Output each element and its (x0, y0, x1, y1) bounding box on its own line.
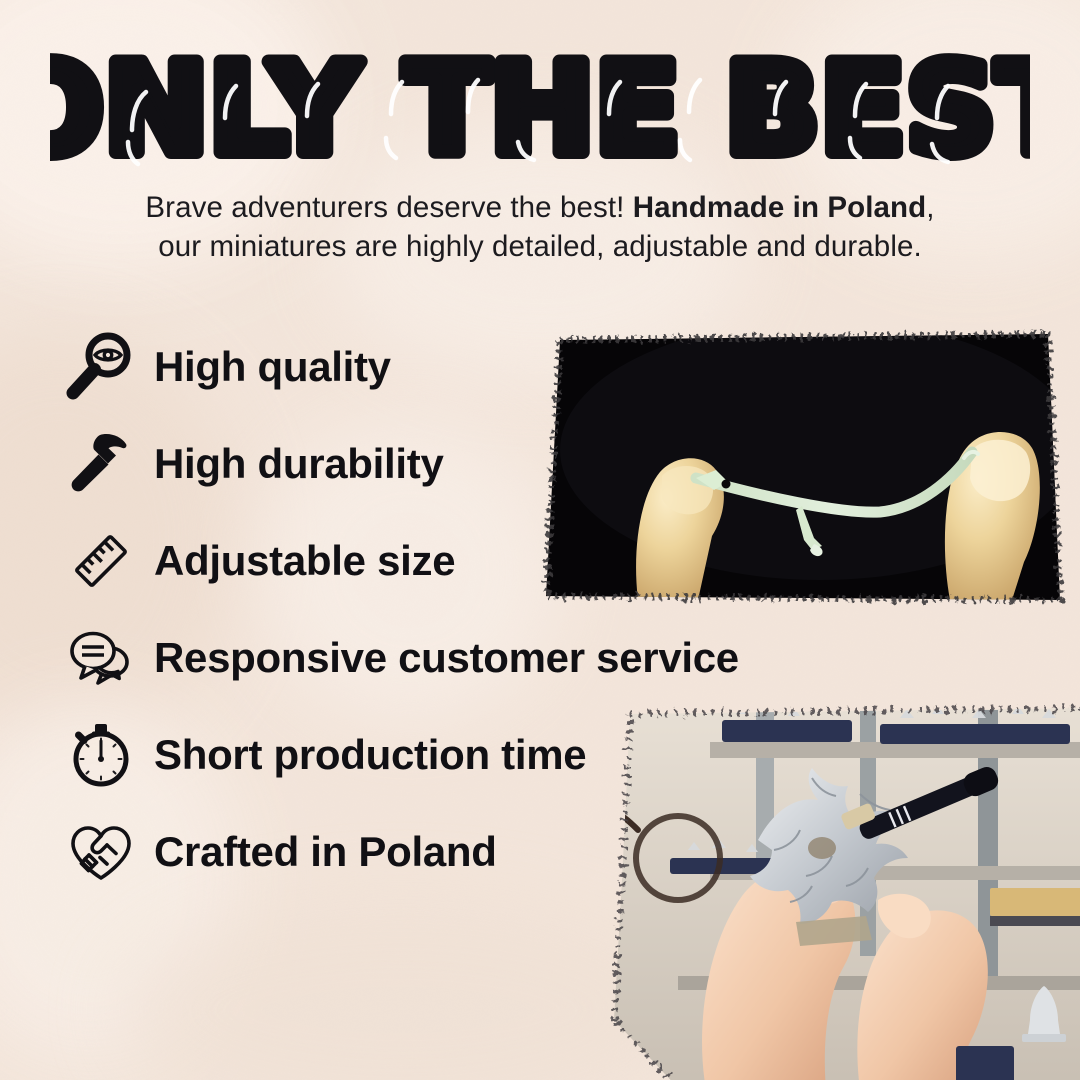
subtitle: Brave adventurers deserve the best! Hand… (60, 188, 1020, 266)
handshake-heart-icon (62, 813, 140, 891)
workshop-painting-art (560, 690, 1080, 1080)
svg-text:ONLY THE BEST: ONLY THE BEST (50, 38, 1030, 182)
feature-label: High durability (154, 443, 444, 485)
flex-test-photo (520, 300, 1080, 630)
magnifier-eye-icon (62, 328, 140, 406)
feature-label: Crafted in Poland (154, 831, 497, 873)
ruler-icon (62, 522, 140, 600)
stopwatch-icon (62, 716, 140, 794)
feature-label: Adjustable size (154, 540, 455, 582)
poster-canvas: ONLY THE BEST Br (0, 0, 1080, 1080)
subtitle-line-2: our miniatures are highly detailed, adju… (158, 230, 922, 263)
subtitle-emphasis: Handmade in Poland (633, 191, 927, 224)
title-block: ONLY THE BEST (0, 34, 1080, 189)
feature-label: High quality (154, 346, 391, 388)
feature-label: Short production time (154, 734, 586, 776)
speech-bubbles-icon (62, 619, 140, 697)
flex-test-photo-art (520, 300, 1080, 630)
subtitle-line-1: Brave adventurers deserve the best! Hand… (145, 191, 934, 224)
page-title: ONLY THE BEST (50, 34, 1030, 184)
feature-label: Responsive customer service (154, 637, 739, 679)
hammer-icon (62, 425, 140, 503)
workshop-painting-photo (560, 690, 1080, 1080)
